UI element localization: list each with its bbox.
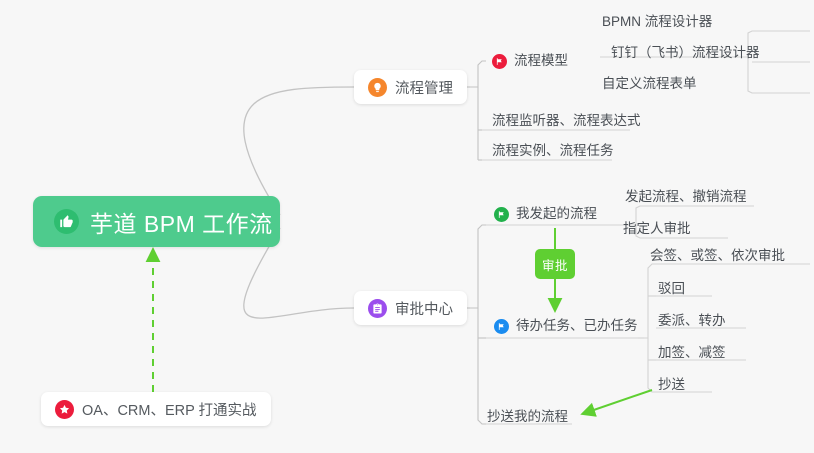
edge-flow-mgmt-spine-up — [470, 61, 486, 87]
node-process-instance[interactable]: 流程实例、流程任务 — [492, 140, 614, 162]
root-node[interactable]: 芋道 BPM 工作流 — [33, 196, 280, 247]
edge-task-actions-down — [648, 338, 656, 392]
branch-label-approval-center: 审批中心 — [395, 298, 453, 319]
approval-emphasis-badge: 审批 — [535, 249, 575, 279]
label-reject: 驳回 — [658, 282, 685, 296]
edge-task-actions-up — [644, 264, 656, 338]
label-delegate-transfer: 委派、转办 — [658, 314, 726, 328]
star-icon — [55, 400, 74, 419]
approval-emphasis-label: 审批 — [542, 255, 568, 274]
node-todo-done-tasks[interactable]: 待办任务、已办任务 — [494, 315, 638, 337]
flag-icon — [494, 207, 509, 222]
arrow-cc-to-my-flow — [585, 390, 652, 413]
node-bpmn-designer[interactable]: BPMN 流程设计器 — [602, 11, 712, 33]
lightbulb-icon — [368, 78, 387, 97]
label-process-instance: 流程实例、流程任务 — [492, 144, 614, 158]
label-todo-done-tasks: 待办任务、已办任务 — [516, 319, 638, 333]
label-my-initiated-flows: 我发起的流程 — [516, 207, 597, 221]
flag-icon — [494, 319, 509, 334]
flag-icon — [492, 54, 507, 69]
node-cc[interactable]: 抄送 — [658, 374, 685, 396]
label-initiate-cancel-flow: 发起流程、撤销流程 — [625, 190, 747, 204]
edge-approval-spine-down — [478, 308, 486, 424]
clipboard-icon — [368, 299, 387, 318]
node-custom-process-form[interactable]: 自定义流程表单 — [602, 73, 697, 95]
branch-node-approval-center[interactable]: 审批中心 — [354, 291, 467, 325]
thumbs-up-icon — [54, 209, 79, 234]
label-custom-process-form: 自定义流程表单 — [602, 77, 697, 91]
floating-node-oa-crm-erp[interactable]: OA、CRM、ERP 打通实战 — [41, 392, 271, 426]
branch-node-flow-management[interactable]: 流程管理 — [354, 70, 467, 104]
edge-approval-spine-up — [470, 225, 486, 308]
label-dingtalk-designer: 钉钉（飞书）流程设计器 — [611, 46, 760, 60]
floating-label-oa-crm-erp: OA、CRM、ERP 打通实战 — [82, 399, 257, 420]
node-reject[interactable]: 驳回 — [658, 278, 685, 300]
node-cc-to-me-flows[interactable]: 抄送我的流程 — [487, 406, 568, 428]
label-add-remove-sign: 加签、减签 — [658, 346, 726, 360]
label-process-model: 流程模型 — [514, 54, 568, 68]
label-bpmn-designer: BPMN 流程设计器 — [602, 15, 712, 29]
branch-label-flow-management: 流程管理 — [395, 77, 453, 98]
node-initiate-cancel-flow[interactable]: 发起流程、撤销流程 — [625, 186, 747, 208]
node-delegate-transfer[interactable]: 委派、转办 — [658, 310, 726, 332]
node-designated-approver[interactable]: 指定人审批 — [623, 218, 691, 240]
label-designated-approver: 指定人审批 — [623, 222, 691, 236]
node-process-model[interactable]: 流程模型 — [492, 50, 568, 72]
label-cc-to-me-flows: 抄送我的流程 — [487, 410, 568, 424]
node-process-listener[interactable]: 流程监听器、流程表达式 — [492, 110, 641, 132]
root-label: 芋道 BPM 工作流 — [90, 205, 273, 239]
label-cc: 抄送 — [658, 378, 685, 392]
node-add-remove-sign[interactable]: 加签、减签 — [658, 342, 726, 364]
mindmap-canvas: 芋道 BPM 工作流 流程管理 流程模型 BPMN 流程设计器 钉钉（飞书）流程… — [0, 0, 814, 453]
label-countersign: 会签、或签、依次审批 — [650, 249, 785, 263]
node-my-initiated-flows[interactable]: 我发起的流程 — [494, 203, 597, 225]
node-dingtalk-designer[interactable]: 钉钉（飞书）流程设计器 — [611, 42, 760, 64]
node-countersign[interactable]: 会签、或签、依次审批 — [650, 245, 785, 267]
label-process-listener: 流程监听器、流程表达式 — [492, 114, 641, 128]
